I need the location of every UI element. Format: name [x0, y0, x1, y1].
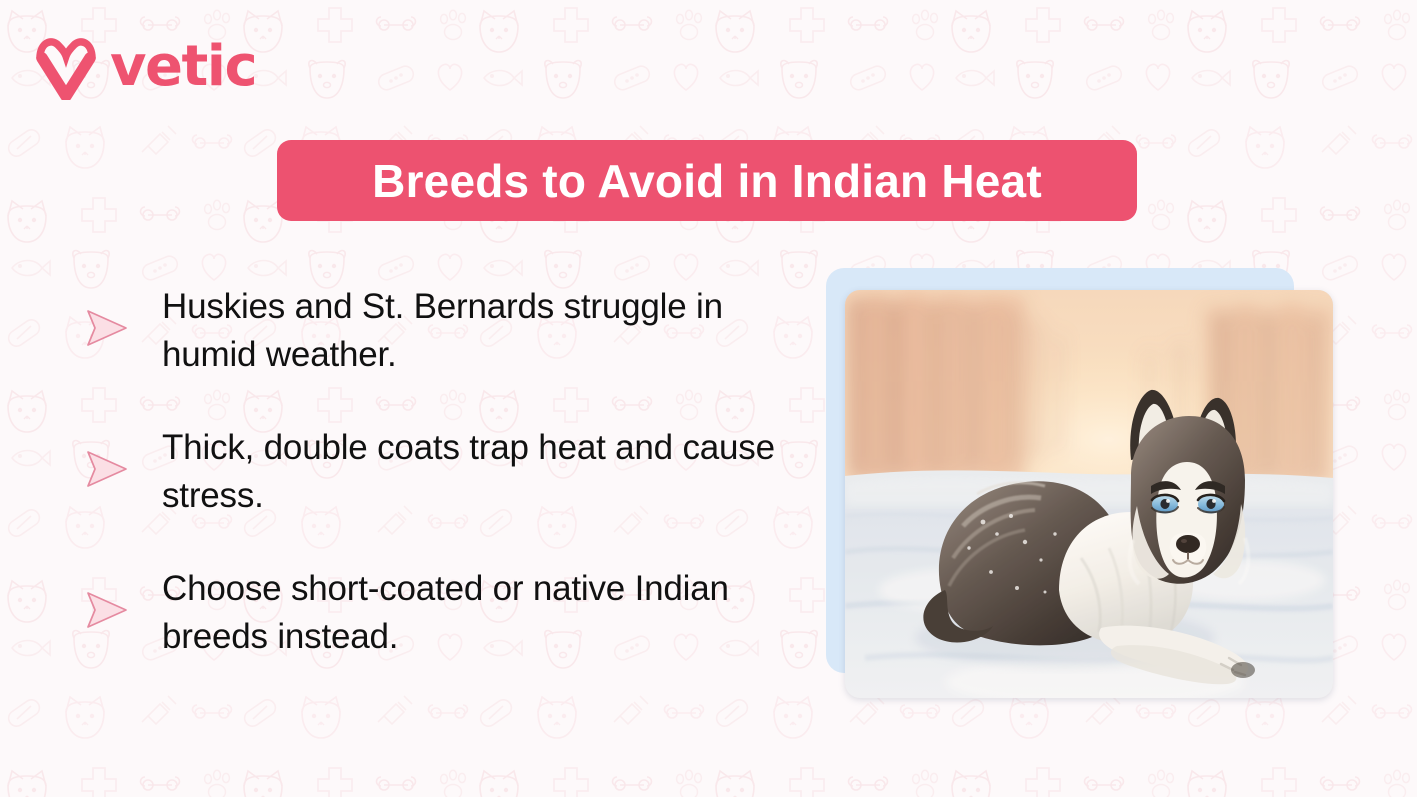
arrow-triangle-right-icon	[84, 305, 130, 351]
photo-area	[826, 268, 1336, 704]
list-item: Choose short-coated or native Indian bre…	[84, 565, 784, 660]
list-item-label: Choose short-coated or native Indian bre…	[162, 565, 784, 660]
arrow-triangle-right-icon	[84, 587, 130, 633]
list-item-label: Huskies and St. Bernards struggle in hum…	[162, 283, 784, 378]
heart-v-logo-icon	[34, 34, 98, 100]
page-title: Breeds to Avoid in Indian Heat	[372, 158, 1042, 204]
brand-logo[interactable]: vetic	[34, 34, 256, 100]
title-banner: Breeds to Avoid in Indian Heat	[277, 140, 1137, 221]
arrow-triangle-right-icon	[84, 446, 130, 492]
brand-wordmark: vetic	[110, 39, 256, 95]
list-item-label: Thick, double coats trap heat and cause …	[162, 424, 784, 519]
bullet-list: Huskies and St. Bernards struggle in hum…	[84, 283, 784, 661]
list-item: Huskies and St. Bernards struggle in hum…	[84, 283, 784, 378]
husky-photo	[845, 290, 1333, 698]
list-item: Thick, double coats trap heat and cause …	[84, 424, 784, 519]
